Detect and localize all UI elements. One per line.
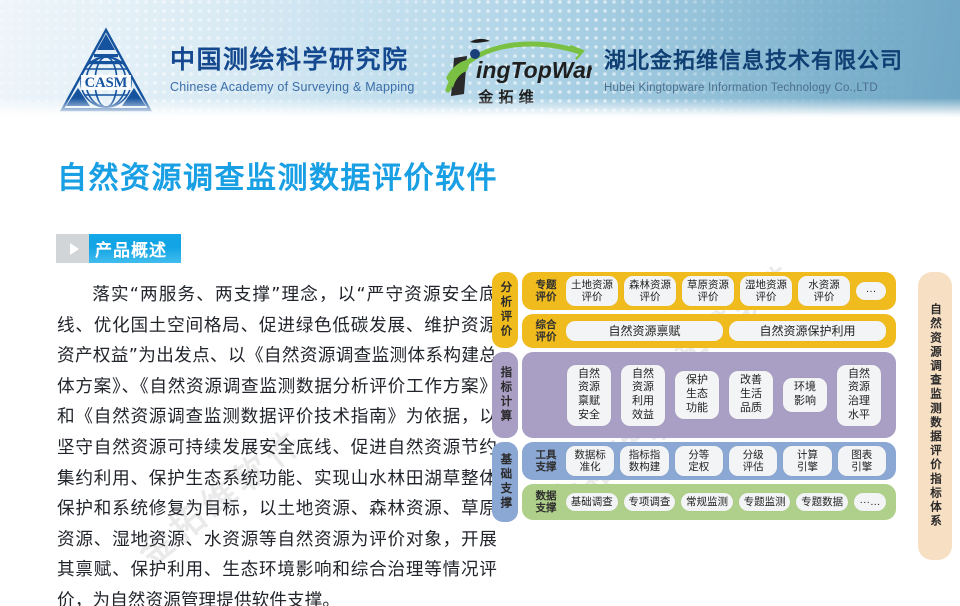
page-title: 自然资源调查监测数据评价软件 (57, 153, 498, 197)
group-cap-base-support: 基础支撑 (492, 442, 518, 522)
diagram-item[interactable]: 专题数据 (796, 493, 848, 511)
diagram-item[interactable]: 数据标 准化 (566, 446, 614, 477)
org2-name-cn: 湖北金拓维信息技术有限公司 (604, 43, 903, 75)
group-cap-analysis: 分析评价 (492, 272, 518, 348)
row-label: 数据 支撑 (529, 490, 563, 514)
diagram-row-thematic-eval: 专题 评价 土地资源 评价 森林资源 评价 草原资源 评价 湿地资源 评价 水资… (522, 272, 896, 310)
diagram-item[interactable]: 湿地资源 评价 (740, 276, 792, 307)
diagram-item[interactable]: 环境 影响 (783, 378, 827, 412)
diagram-item[interactable]: 保护 生态 功能 (675, 371, 719, 418)
org2-name-en: Hubei Kingtopware Information Technology… (604, 82, 878, 94)
diagram-item[interactable]: 图表 引擎 (838, 446, 886, 477)
diagram-row-data-support: 数据 支撑 基础调查 专项调查 常规监测 专题监测 专题数据 ···… (522, 484, 896, 520)
diagram-row-indicators: 自然 资源 禀赋 安全 自然 资源 利用 效益 保护 生态 功能 改善 生活 品… (522, 352, 896, 438)
diagram-item[interactable]: 常规监测 (681, 493, 733, 511)
section-badge-label: 产品概述 (89, 234, 181, 263)
diagram-item[interactable]: 自然 资源 禀赋 安全 (567, 365, 611, 426)
casm-logo-text: CASM (85, 75, 128, 91)
diagram-right-caption: 自然资源调查监测数据评价指标体系 (918, 272, 952, 560)
diagram-item[interactable]: 分等 定权 (675, 446, 723, 477)
diagram-item[interactable]: 土地资源 评价 (566, 276, 618, 307)
diagram-item[interactable]: 自然 资源 治理 水平 (837, 365, 881, 426)
diagram-item[interactable]: 基础调查 (566, 493, 618, 511)
diagram-item[interactable]: 草原资源 评价 (682, 276, 734, 307)
row-label: 综合 评价 (529, 319, 563, 343)
diagram-item[interactable]: 自然 资源 利用 效益 (621, 365, 665, 426)
diagram-row-tool-support: 工具 支撑 数据标 准化 指标指 数构建 分等 定权 分级 评估 计算 引擎 图… (522, 442, 896, 480)
diagram-item[interactable]: 改善 生活 品质 (729, 371, 773, 418)
slide-page: CASM 中国测绘科学研究院 Chinese Academy of Survey… (0, 0, 960, 606)
diagram-item[interactable]: 专题监测 (739, 493, 791, 511)
diagram-item[interactable]: 指标指 数构建 (620, 446, 668, 477)
page-header: CASM 中国测绘科学研究院 Chinese Academy of Survey… (0, 0, 960, 118)
row-label: 工具 支撑 (529, 449, 563, 473)
org1-name-en: Chinese Academy of Surveying & Mapping (170, 80, 415, 94)
diagram-row-comprehensive-eval: 综合 评价 自然资源禀赋 自然资源保护利用 (522, 314, 896, 348)
row-label: 专题 评价 (529, 279, 563, 303)
section-badge: 产品概述 (56, 234, 181, 263)
diagram-item-more[interactable]: ···… (854, 493, 886, 511)
diagram-group-analysis: 分析评价 专题 评价 土地资源 评价 森林资源 评价 草原资源 评价 湿地资源 … (492, 272, 896, 348)
org1-name-cn: 中国测绘科学研究院 (170, 40, 409, 76)
diagram-item-more[interactable]: ··· (856, 282, 886, 300)
indicator-system-diagram: 分析评价 专题 评价 土地资源 评价 森林资源 评价 草原资源 评价 湿地资源 … (492, 272, 952, 560)
badge-tab (56, 234, 89, 263)
diagram-item[interactable]: 自然资源禀赋 (566, 321, 723, 341)
diagram-item[interactable]: 分级 评估 (729, 446, 777, 477)
kingtopware-brand-en: ingTopWare (476, 57, 592, 83)
diagram-item[interactable]: 森林资源 评价 (624, 276, 676, 307)
diagram-item[interactable]: 计算 引擎 (783, 446, 831, 477)
header-fade (0, 98, 960, 118)
overview-paragraph: 落实“两服务、两支撑”理念，以“严守资源安全底线、优化国土空间格局、促进绿色低碳… (57, 280, 497, 606)
diagram-item[interactable]: 专项调查 (624, 493, 676, 511)
diagram-item[interactable]: 自然资源保护利用 (729, 321, 886, 341)
play-triangle-icon (70, 243, 79, 255)
diagram-group-base-support: 基础支撑 工具 支撑 数据标 准化 指标指 数构建 分等 定权 分级 评估 计算… (492, 442, 896, 522)
diagram-group-indicator: 指标计算 自然 资源 禀赋 安全 自然 资源 利用 效益 保护 生态 功能 改善… (492, 352, 896, 438)
group-cap-indicator: 指标计算 (492, 352, 518, 438)
diagram-item[interactable]: 水资源 评价 (798, 276, 850, 307)
